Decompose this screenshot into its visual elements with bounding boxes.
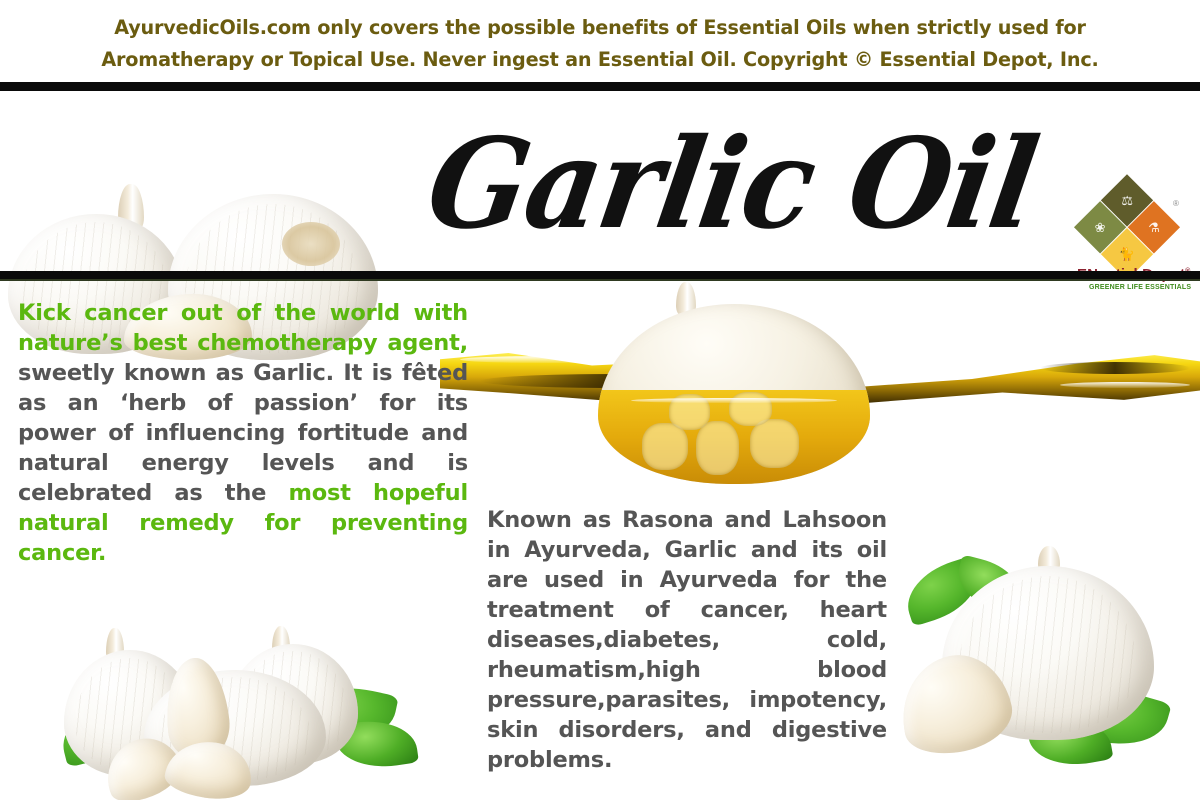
left-paragraph-highlight-start: Kick cancer out of the world with nature… [18, 300, 468, 356]
right-paragraph-text: Known as Rasona and Lahsoon in Ayurveda,… [487, 507, 887, 773]
bottle-glyph: ⚗ [1148, 221, 1160, 234]
clove-cell [696, 421, 740, 475]
leaf-glyph: ❀ [1095, 221, 1106, 234]
oil-highlight-right [1060, 382, 1190, 388]
divider-middle-accent [0, 279, 1200, 281]
right-paragraph: Known as Rasona and Lahsoon in Ayurveda,… [487, 505, 887, 775]
clove-cell [750, 419, 799, 468]
title-band: Garlic Oil ⚖ ⚗ ❀ 🐈 ® EΝential Depot® GRE… [0, 91, 1200, 271]
page-title: Garlic Oil [417, 104, 1062, 265]
divider-top [0, 82, 1200, 91]
left-paragraph: Kick cancer out of the world with nature… [18, 298, 468, 568]
divider-middle [0, 271, 1200, 279]
oil-highlight-left [460, 356, 640, 363]
image-bottom-left-garlic [60, 612, 420, 800]
disclaimer-banner: AyurvedicOils.com only covers the possib… [0, 0, 1200, 82]
disclaimer-line-1: AyurvedicOils.com only covers the possib… [9, 12, 1191, 44]
garlic-root-scar [282, 222, 340, 266]
image-garlic-in-oil [440, 286, 1200, 486]
registered-mark-icon: ® [1173, 199, 1179, 208]
oil-surface-line [631, 398, 838, 403]
oil-garlic-bulb [598, 304, 870, 484]
animal-glyph: 🐈 [1119, 248, 1135, 261]
disclaimer-line-2: Aromatherapy or Topical Use. Never inges… [9, 44, 1191, 76]
clove-cell [642, 423, 688, 470]
garlic-oil-infographic: AyurvedicOils.com only covers the possib… [0, 0, 1200, 800]
scales-glyph: ⚖ [1121, 194, 1133, 207]
oil-dark-streak-right [1040, 362, 1190, 374]
image-bottom-right-garlic [880, 540, 1180, 795]
